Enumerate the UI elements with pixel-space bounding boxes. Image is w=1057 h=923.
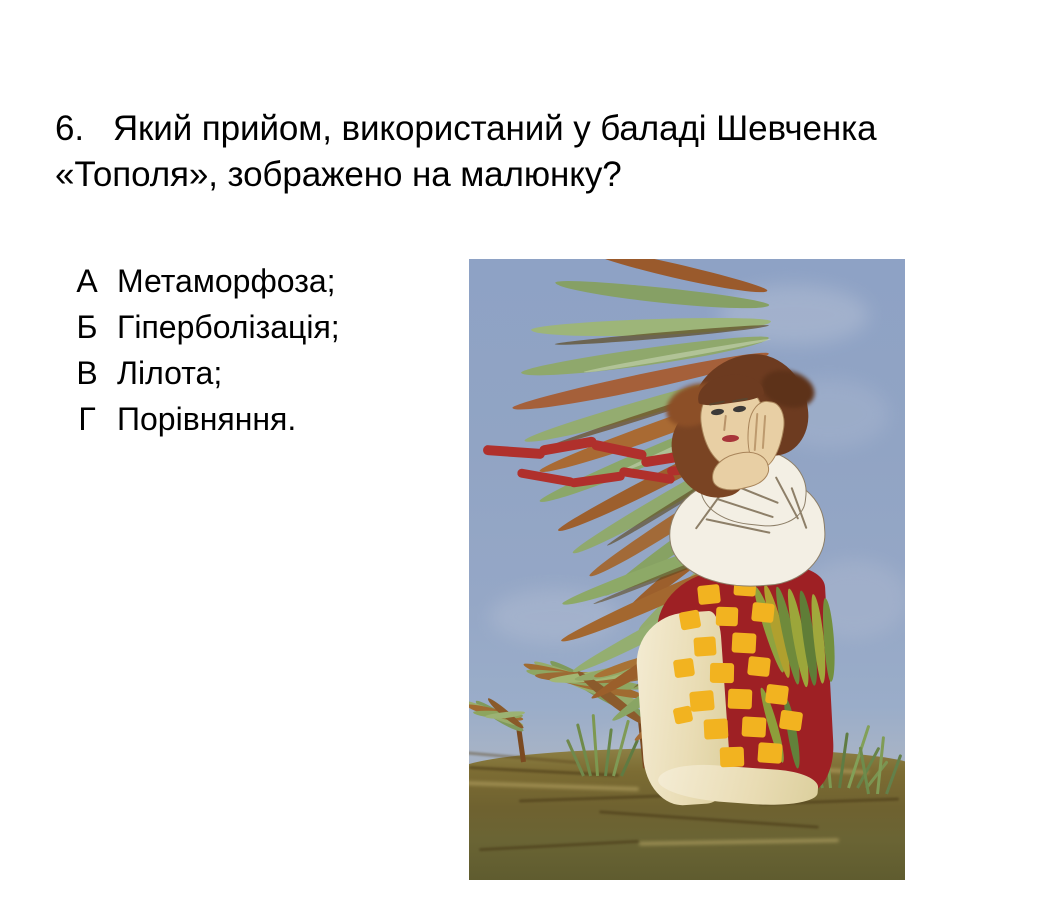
option-letter-v: В [57, 350, 117, 396]
painting-frame [469, 259, 905, 880]
figure-face [695, 375, 791, 495]
option-letter-a: А [57, 258, 117, 304]
painting-poplar-girl [469, 259, 905, 880]
option-text-v[interactable]: Лілота; [117, 350, 449, 396]
empty-letter-cell [57, 442, 117, 882]
figure-skirt [634, 559, 884, 814]
option-letter-g: Г [57, 396, 117, 442]
option-text-b[interactable]: Гіперболізація; [117, 304, 449, 350]
empty-text-cell [117, 442, 449, 882]
answer-options-table: А Метаморфоза; [57, 258, 975, 882]
table-row[interactable]: А Метаморфоза; [57, 258, 975, 304]
option-text-g[interactable]: Порівняння. [117, 396, 449, 442]
option-text-a[interactable]: Метаморфоза; [117, 258, 449, 304]
option-letter-b: Б [57, 304, 117, 350]
page-title: 6. Який прийом, використаний у баладі Ше… [55, 106, 955, 198]
illustration-cell [449, 258, 975, 882]
